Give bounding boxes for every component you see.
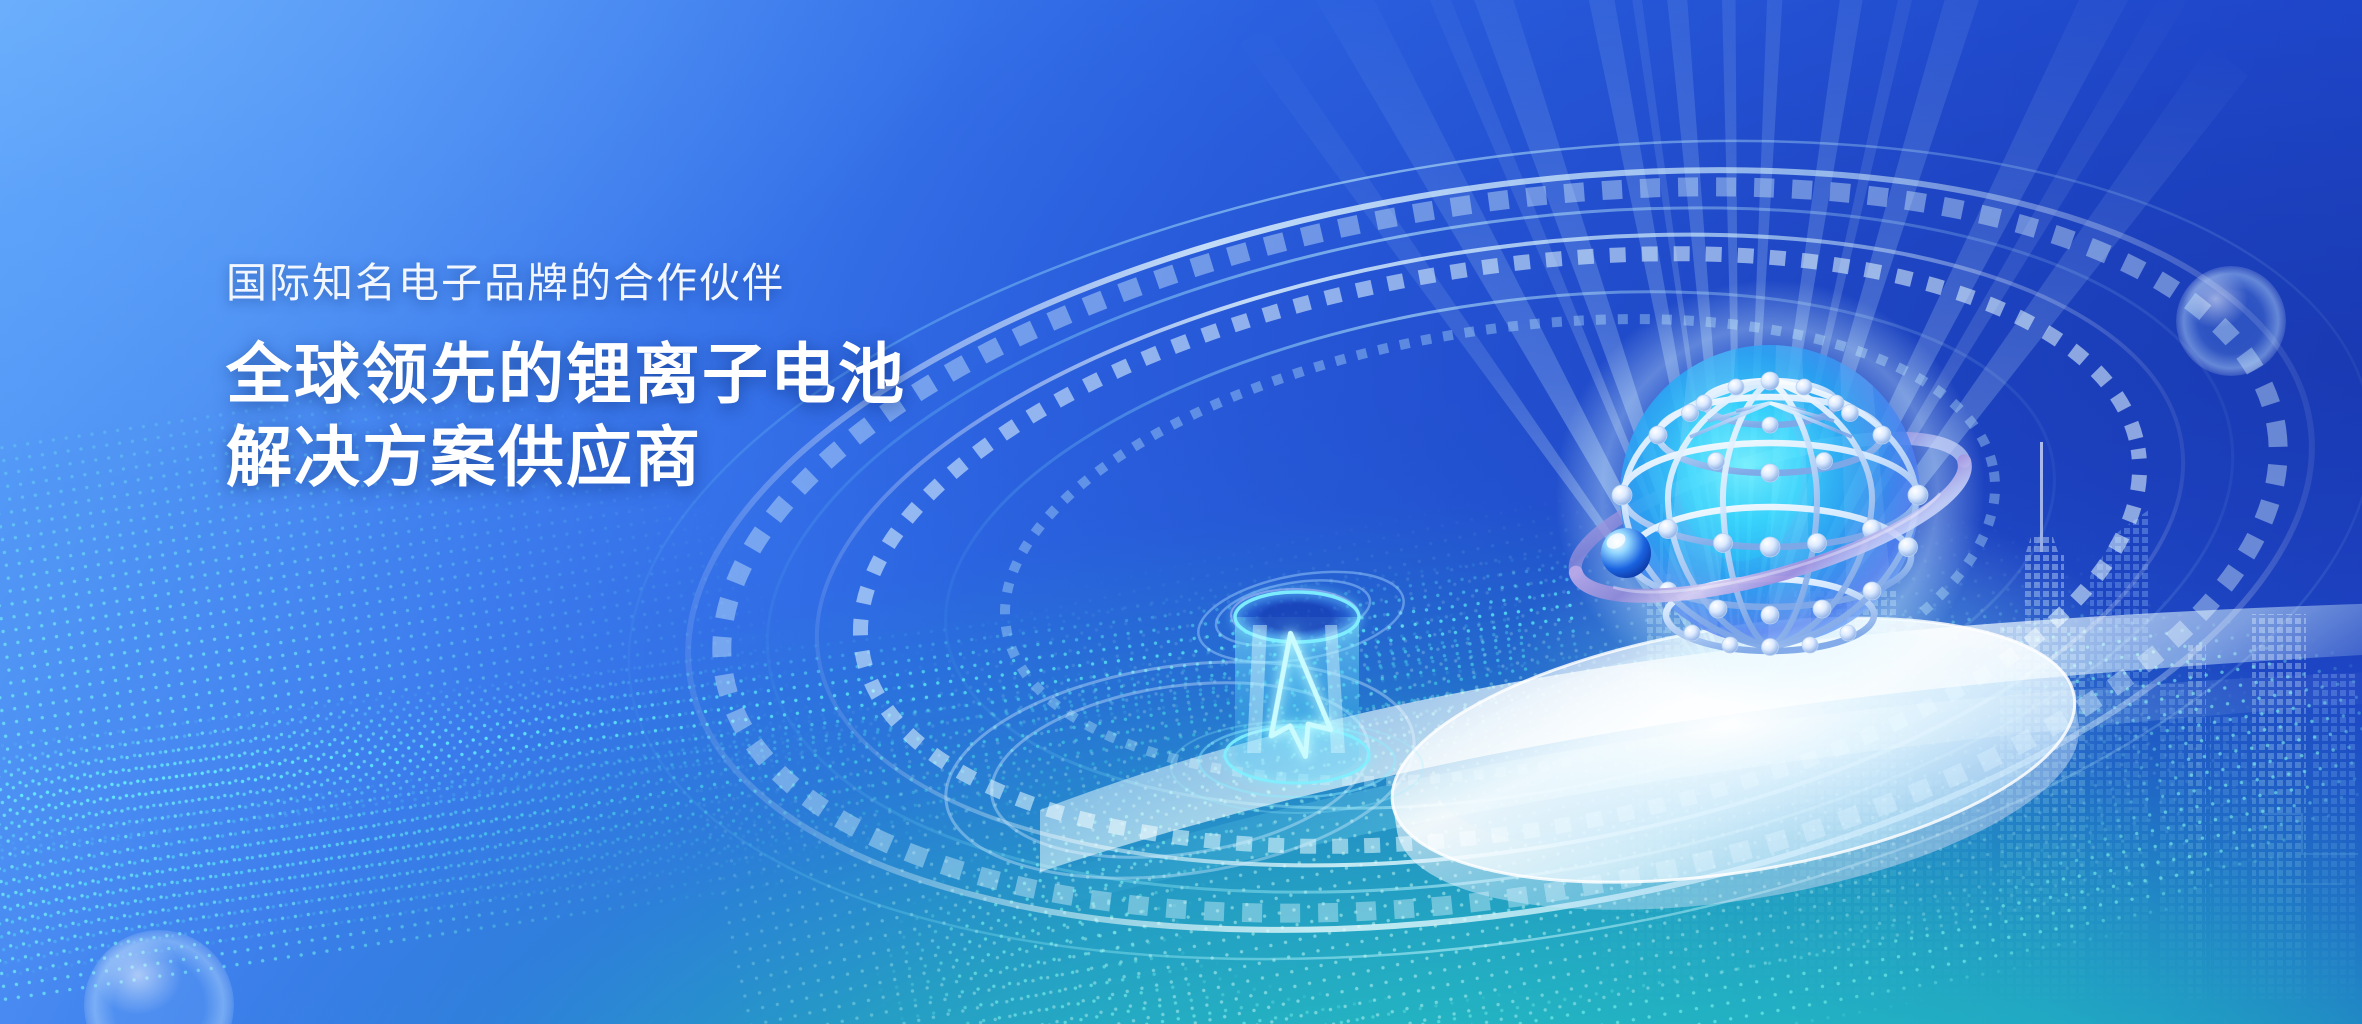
hero-headline-line-2: 解决方案供应商: [226, 416, 1126, 499]
hero-copy: 国际知名电子品牌的合作伙伴 全球领先的锂离子电池 解决方案供应商: [226, 258, 1126, 500]
hero-banner: 国际知名电子品牌的合作伙伴 全球领先的锂离子电池 解决方案供应商: [0, 0, 2362, 1024]
bubble-icon: [2176, 266, 2286, 376]
hero-headline-line-1: 全球领先的锂离子电池: [226, 333, 1126, 416]
hero-eyebrow: 国际知名电子品牌的合作伙伴: [226, 258, 1126, 309]
page-title: 全球领先的锂离子电池 解决方案供应商: [226, 333, 1126, 499]
